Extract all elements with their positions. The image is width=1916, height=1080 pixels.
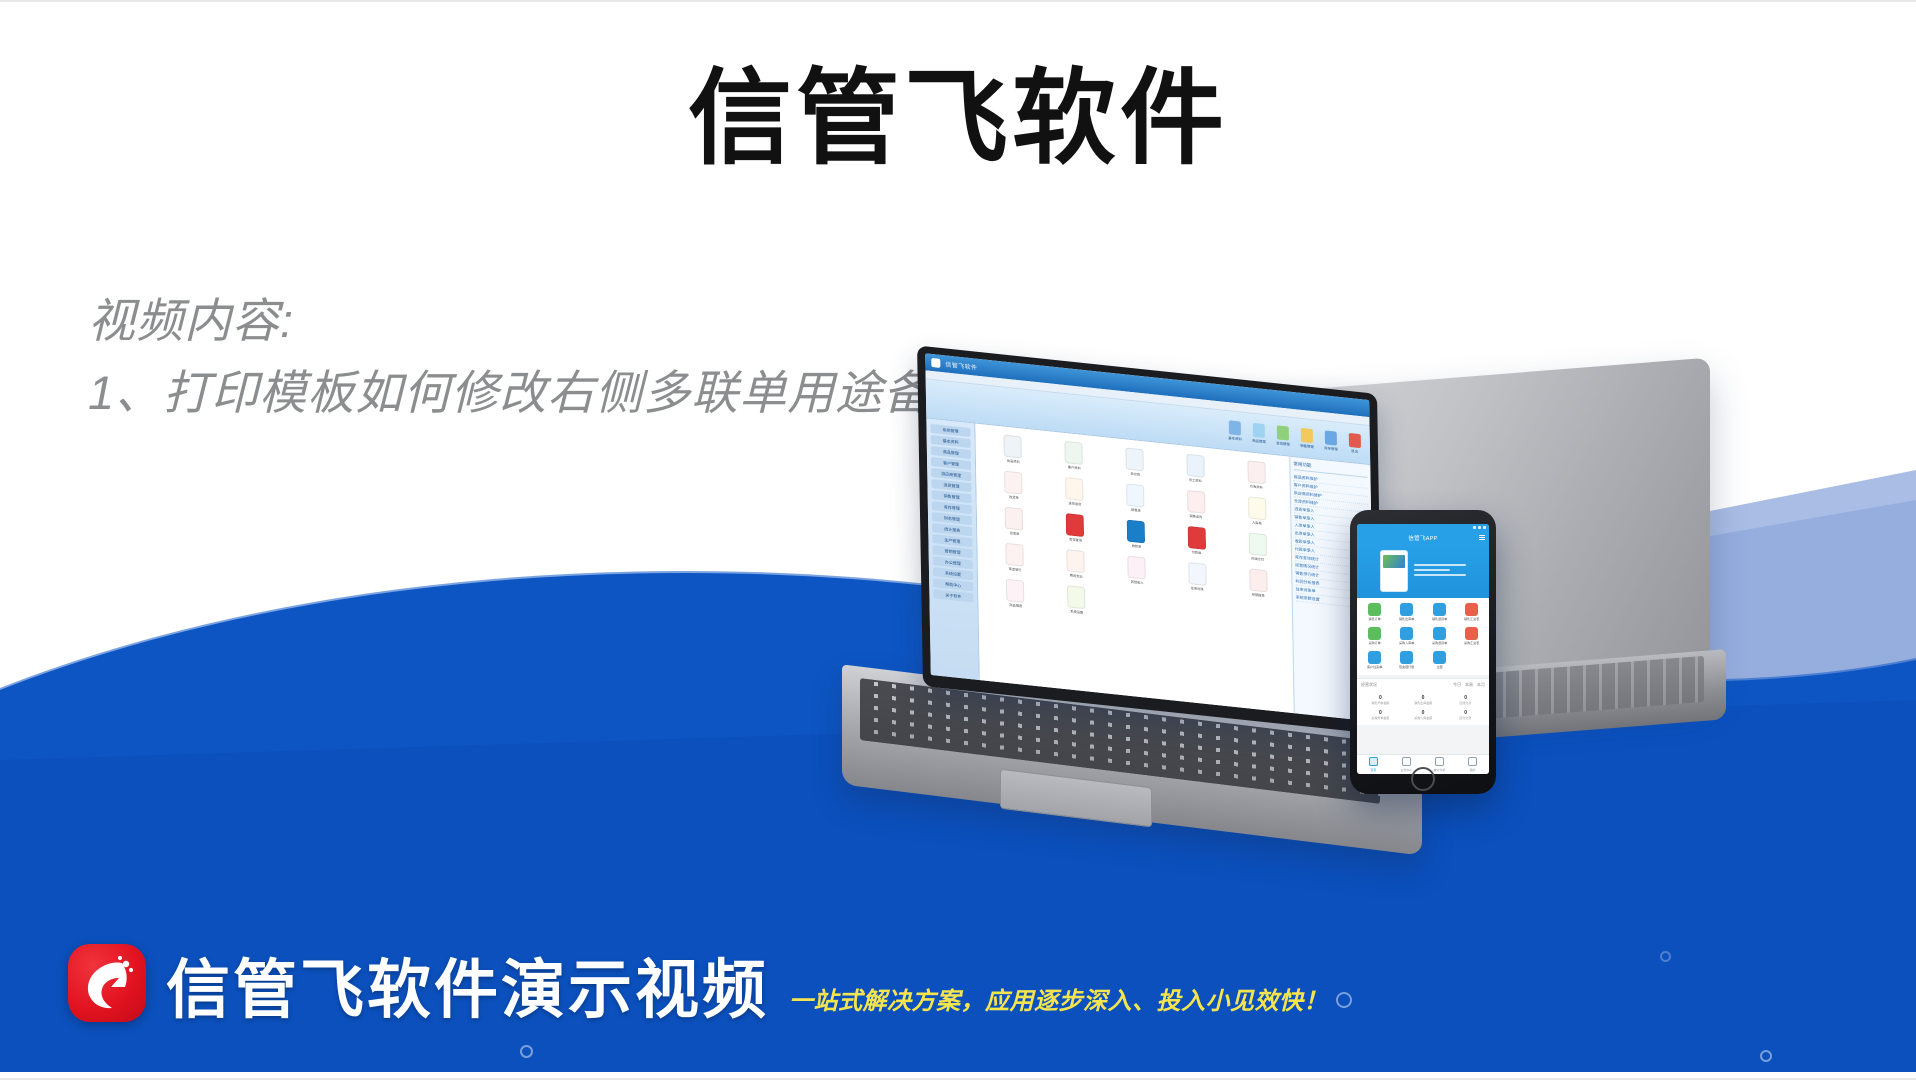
module-icon-label: 收款单 [1113, 542, 1160, 552]
phone-function-icon [1400, 603, 1413, 616]
slide-top-border [0, 0, 1916, 8]
phone-status-bar [1357, 524, 1489, 531]
phone-banner-text-lines [1414, 564, 1466, 579]
desktop-module-icon[interactable]: 其他收入 [1107, 553, 1166, 588]
desktop-module-icon[interactable]: 应收应付 [1228, 530, 1287, 565]
desktop-toolbar-button[interactable]: 退出 [1347, 432, 1362, 455]
desktop-module-icon[interactable]: 客户资料 [1044, 439, 1103, 474]
phone-function-label: 采购退货单 [1426, 641, 1453, 645]
desktop-module-icon[interactable]: 收款单 [1106, 517, 1165, 552]
module-icon-glyph [1065, 441, 1083, 465]
toolbar-icon [1324, 430, 1336, 445]
module-icon-label: 其他收入 [1113, 578, 1160, 588]
desktop-module-icon[interactable]: 经营报表 [1228, 566, 1287, 601]
phone-function-label: 销售退货单 [1426, 617, 1453, 621]
phone-stat-label: 采购开单金额 [1362, 716, 1398, 720]
phone-filter-chip[interactable]: 本周 [1465, 682, 1473, 687]
phone-illustration-icon [1380, 550, 1408, 592]
toolbar-label: 库存管理 [1324, 445, 1337, 451]
desktop-body: 系统管理基本资料商品管理客户管理供应商管理进货管理销售管理库存管理财务管理统计报… [926, 418, 1374, 721]
toolbar-label: 基本资料 [1228, 435, 1241, 441]
module-icon-glyph [1186, 454, 1204, 478]
module-icon-glyph [1125, 447, 1143, 471]
phone-function-icon [1433, 603, 1446, 616]
desktop-module-icon[interactable]: 销售退货 [1166, 488, 1225, 523]
presentation-slide: 信管飞软件 视频内容: 1、打印模板如何修改右侧多联单用途备注? 信管飞软件 [0, 0, 1916, 1080]
phone-stat-value: 0 [1359, 695, 1402, 701]
phone-function-cell[interactable]: 销售出库单 [1391, 603, 1422, 622]
toolbar-label: 商品管理 [1252, 438, 1265, 444]
phone-stats-grid: 0销售开单金额0销售出库金额0应收欠款0采购开单金额0采购入库金额0应付欠款 [1357, 691, 1489, 725]
phone-function-icon [1465, 603, 1478, 616]
phone-function-icon [1465, 627, 1478, 640]
footer-brand-text: 信管飞软件演示视频 [166, 958, 769, 1022]
phone-tab[interactable]: 我的 [1456, 757, 1489, 772]
desktop-module-icon[interactable]: 商品报表 [986, 577, 1045, 612]
phone-function-icon [1368, 627, 1381, 640]
phone-stat-label: 销售出库金额 [1405, 701, 1441, 705]
phone-stat-cell: 0应收欠款 [1444, 695, 1487, 706]
phone-function-icon [1368, 651, 1381, 664]
module-icon-glyph [1005, 507, 1023, 531]
wifi-icon [1478, 526, 1481, 529]
video-content-label: 视频内容: [88, 285, 1006, 357]
desktop-module-icon[interactable]: 销售单 [1106, 481, 1165, 516]
laptop-bezel: 信管飞软件 基本资料商品管理进货管理销售管理库存管理退出 系统管理基本资料商品管… [917, 345, 1383, 734]
toolbar-label: 销售管理 [1300, 443, 1313, 449]
toolbar-icon [1348, 432, 1360, 447]
phone-function-icon [1400, 627, 1413, 640]
module-icon-label: 进货单 [990, 493, 1037, 503]
toolbar-icon [1300, 427, 1312, 442]
toolbar-icon [1228, 420, 1240, 435]
phone-function-label: 采购汇总表 [1458, 641, 1485, 645]
phone-tab-icon [1402, 757, 1411, 766]
laptop-screen-content: 信管飞软件 基本资料商品管理进货管理销售管理库存管理退出 系统管理基本资料商品管… [925, 353, 1375, 721]
phone-app-title: 信管飞APP [1408, 534, 1437, 542]
desktop-module-icon[interactable]: 商品资料 [983, 432, 1042, 467]
phone-function-label: 销售汇总表 [1458, 617, 1485, 621]
phone-function-cell[interactable]: 全部 [1424, 651, 1455, 670]
phone-stat-label: 销售开单金额 [1362, 701, 1398, 705]
video-content-block: 视频内容: 1、打印模板如何修改右侧多联单用途备注? [88, 285, 1006, 429]
module-icon-glyph [1248, 532, 1266, 556]
module-icon-label: 销售单 [1112, 506, 1159, 516]
desktop-module-icon[interactable]: 费用支出 [1046, 547, 1105, 582]
desktop-toolbar-button[interactable]: 销售管理 [1299, 427, 1314, 450]
module-icon-label: 进货退货 [1051, 499, 1098, 509]
decorative-bubble-2 [520, 1045, 533, 1058]
module-icon-glyph [1248, 496, 1266, 520]
module-icon-glyph [1006, 543, 1024, 567]
desktop-toolbar-button[interactable]: 基本资料 [1227, 420, 1242, 443]
module-icon-label: 入库单 [1234, 518, 1281, 528]
module-icon-label: 商品报表 [992, 601, 1039, 611]
phone-stat-cell: 0采购开单金额 [1359, 710, 1402, 721]
phone-stat-label: 采购入库金额 [1405, 716, 1441, 720]
desktop-module-icon[interactable]: 出库单 [985, 505, 1044, 540]
desktop-module-icon[interactable]: 供应商 [1105, 445, 1164, 480]
desktop-app-logo-icon [931, 358, 940, 368]
slide-bottom-border [0, 1072, 1916, 1080]
module-icon-glyph [1067, 585, 1085, 609]
module-icon-glyph [1249, 568, 1267, 592]
phone-home-button[interactable] [1411, 767, 1435, 791]
hamburger-menu-icon[interactable] [1479, 535, 1485, 540]
module-icon-glyph [1187, 490, 1205, 514]
desktop-module-icon[interactable]: 往来对账 [1168, 560, 1227, 595]
module-icon-glyph [1187, 526, 1205, 550]
phone-function-cell[interactable]: 采购入库单 [1391, 627, 1422, 646]
module-icon-glyph [1006, 579, 1024, 603]
phone-function-cell[interactable]: 销售汇总表 [1456, 603, 1487, 622]
module-icon-glyph [1067, 549, 1085, 573]
phone-stat-cell: 0销售出库金额 [1402, 695, 1445, 706]
module-icon-label: 商品资料 [990, 457, 1037, 467]
module-icon-glyph [1126, 483, 1144, 507]
phone-filter-chip[interactable]: 本月 [1477, 682, 1485, 687]
desktop-module-icon[interactable]: 付款单 [1167, 524, 1226, 559]
desktop-sidebar: 系统管理基本资料商品管理客户管理供应商管理进货管理销售管理库存管理财务管理统计报… [926, 418, 979, 682]
phone-function-label: 全部 [1426, 665, 1453, 669]
slide-title: 信管飞软件 [0, 62, 1916, 176]
module-icon-glyph [1247, 460, 1265, 484]
module-icon-label: 员工资料 [1172, 476, 1219, 486]
toolbar-icon [1276, 425, 1288, 440]
module-icon-label: 付款单 [1173, 548, 1220, 558]
module-icon-label: 供应商 [1111, 470, 1158, 480]
phone-tab-icon [1369, 757, 1378, 766]
module-icon-label: 客户资料 [1051, 463, 1098, 473]
phone-function-label: 客户往来单 [1361, 665, 1388, 669]
phone-function-cell[interactable]: 采购退货单 [1424, 627, 1455, 646]
toolbar-label: 退出 [1348, 448, 1361, 454]
phone-app-header: 信管飞APP [1357, 531, 1489, 544]
toolbar-icon [1252, 422, 1264, 437]
phone-function-cell[interactable]: 采购订单 [1359, 627, 1390, 646]
module-icon-label: 应收应付 [1234, 554, 1281, 564]
phone-function-icon [1433, 627, 1446, 640]
xinguanfei-logo-icon [68, 944, 146, 1022]
decorative-bubble-4 [1660, 951, 1671, 962]
phone-section-filters[interactable]: 今日本周本月 [1449, 682, 1485, 688]
decorative-bubble-1 [1336, 992, 1352, 1008]
phone-stat-label: 应付欠款 [1448, 716, 1484, 720]
module-icon-label: 仓库资料 [1233, 482, 1280, 492]
phone-tab-icon [1468, 757, 1477, 766]
desktop-module-icon[interactable]: 系统设置 [1047, 583, 1106, 618]
module-icon-glyph [1004, 435, 1022, 459]
phone-function-cell[interactable]: 销售订单 [1359, 603, 1390, 622]
module-icon-glyph [1188, 562, 1206, 586]
phone-function-cell[interactable]: 现金银行账 [1391, 651, 1422, 670]
module-icon-label: 库存查询 [1052, 535, 1099, 545]
desktop-app-title: 信管飞软件 [945, 359, 977, 371]
desktop-module-icon[interactable]: 现金银行 [985, 541, 1044, 576]
desktop-toolbar-button[interactable]: 库存管理 [1323, 430, 1338, 453]
phone-stat-value: 0 [1444, 710, 1487, 716]
phone-stat-cell: 0销售开单金额 [1359, 695, 1402, 706]
desktop-module-icon[interactable]: 员工资料 [1166, 452, 1225, 487]
module-icon-glyph [1127, 556, 1145, 580]
desktop-module-icon[interactable]: 仓库资料 [1227, 458, 1286, 493]
phone-function-label: 销售出库单 [1394, 617, 1421, 621]
module-icon-label: 现金银行 [992, 565, 1039, 575]
phone-tab-icon [1435, 757, 1444, 766]
phone-stat-cell: 0采购入库金额 [1402, 710, 1445, 721]
phone-filter-chip[interactable]: 今日 [1453, 682, 1461, 687]
module-icon-label: 系统设置 [1053, 607, 1100, 617]
module-icon-label: 出库单 [991, 529, 1038, 539]
desktop-module-icon[interactable]: 库存查询 [1045, 511, 1104, 546]
phone-screen-content: 信管飞APP 销售订单销售出库单销售退货单销售汇总表采购订单采购入库单采购退货单… [1357, 524, 1489, 774]
phone-function-cell[interactable]: 销售退货单 [1424, 603, 1455, 622]
desktop-module-icon[interactable]: 进货退货 [1045, 475, 1104, 510]
phone-section-header: 经营状况 今日本周本月 [1357, 678, 1489, 691]
phone-function-cell[interactable]: 采购汇总表 [1456, 627, 1487, 646]
phone-stat-value: 0 [1402, 710, 1445, 716]
module-icon-label: 费用支出 [1052, 571, 1099, 581]
phone-stat-value: 0 [1402, 695, 1445, 701]
phone-stat-cell: 0应付欠款 [1444, 710, 1487, 721]
smartphone: 信管飞APP 销售订单销售出库单销售退货单销售汇总表采购订单采购入库单采购退货单… [1350, 510, 1496, 794]
footer-brand-bar: 信管飞软件演示视频 一站式解决方案，应用逐步深入、投入小见效快！ [68, 944, 1328, 1022]
phone-tab-label: 首页 [1359, 767, 1387, 771]
phone-stat-value: 0 [1359, 710, 1402, 716]
phone-function-label: 采购订单 [1361, 641, 1388, 645]
footer-tagline: 一站式解决方案，应用逐步深入、投入小见效快！ [789, 981, 1328, 1022]
desktop-module-icon[interactable]: 进货单 [984, 469, 1043, 504]
module-icon-glyph [1066, 513, 1084, 537]
phone-function-label: 现金银行账 [1394, 665, 1421, 669]
toolbar-label: 进货管理 [1276, 440, 1289, 446]
device-mockup-group: 信管飞软件 基本资料商品管理进货管理销售管理库存管理退出 系统管理基本资料商品管… [880, 370, 1916, 970]
phone-function-cell[interactable]: 客户往来单 [1359, 651, 1390, 670]
module-icon-label: 销售退货 [1173, 512, 1220, 522]
desktop-icon-grid: 商品资料客户资料供应商员工资料仓库资料进货单进货退货销售单销售退货入库单出库单库… [975, 424, 1293, 716]
phone-function-icon [1433, 651, 1446, 664]
phone-stat-value: 0 [1444, 695, 1487, 701]
phone-hero-banner [1357, 544, 1489, 598]
desktop-module-icon[interactable]: 入库单 [1227, 494, 1286, 529]
decorative-bubble-3 [1760, 1050, 1772, 1062]
phone-stat-label: 应收欠款 [1448, 701, 1484, 705]
video-content-item-1: 1、打印模板如何修改右侧多联单用途备注? [88, 357, 1006, 429]
phone-function-icon [1368, 603, 1381, 616]
phone-tab-label: 我的 [1458, 767, 1486, 771]
battery-icon [1483, 526, 1486, 529]
phone-function-label: 采购入库单 [1394, 641, 1421, 645]
phone-function-grid: 销售订单销售出库单销售退货单销售汇总表采购订单采购入库单采购退货单采购汇总表客户… [1357, 598, 1489, 675]
phone-function-icon [1400, 651, 1413, 664]
module-icon-glyph [1004, 471, 1022, 495]
phone-function-label: 销售订单 [1361, 617, 1388, 621]
module-icon-glyph [1065, 477, 1083, 501]
laptop-front: 信管飞软件 基本资料商品管理进货管理销售管理库存管理退出 系统管理基本资料商品管… [917, 345, 1383, 734]
desktop-sidebar-item[interactable]: 关于软件 [933, 589, 973, 602]
desktop-toolbar-button[interactable]: 商品管理 [1251, 422, 1266, 445]
phone-tab[interactable]: 首页 [1357, 757, 1390, 772]
module-icon-glyph [1127, 520, 1145, 544]
desktop-toolbar-button[interactable]: 进货管理 [1275, 425, 1290, 448]
module-icon-label: 经营报表 [1235, 591, 1282, 601]
signal-icon [1473, 526, 1476, 529]
module-icon-label: 往来对账 [1174, 584, 1221, 594]
phone-section-title: 经营状况 [1361, 682, 1377, 688]
